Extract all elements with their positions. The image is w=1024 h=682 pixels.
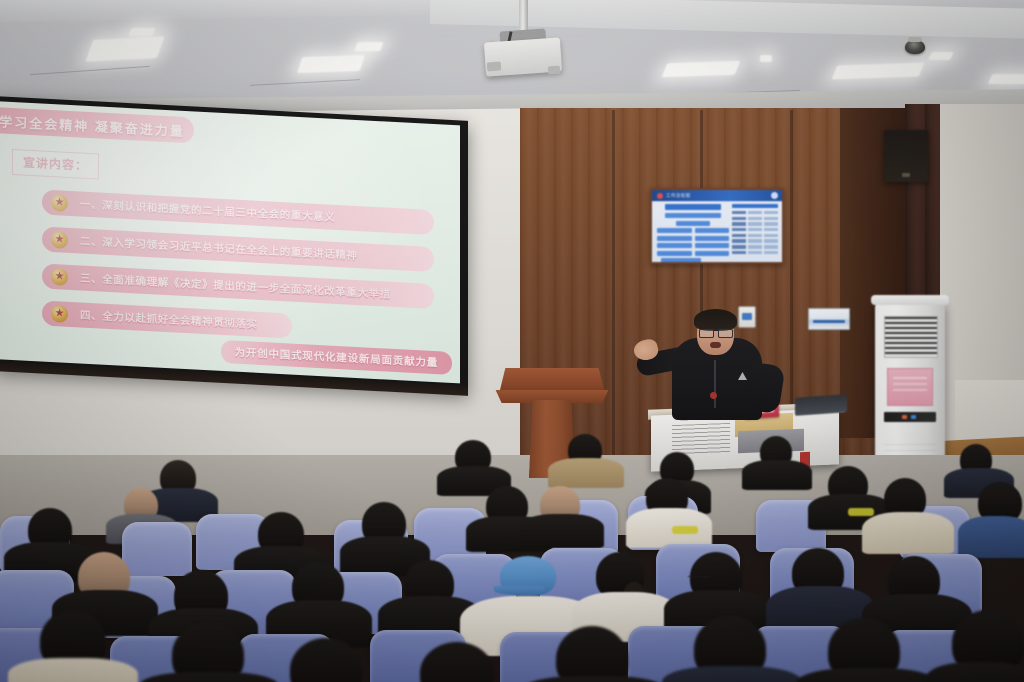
info-table-cell xyxy=(732,228,746,231)
flowchart-node xyxy=(657,243,692,248)
info-table-cell xyxy=(748,217,762,220)
wood-seam xyxy=(612,110,615,460)
ceiling-light xyxy=(831,63,924,80)
audience-shoulders xyxy=(548,458,624,488)
info-table-cell xyxy=(732,251,746,254)
slide-subheading: 宣讲内容： xyxy=(12,149,99,180)
ceiling-light xyxy=(662,61,741,78)
audience-shoulders xyxy=(958,516,1024,558)
wall-switch-panel[interactable] xyxy=(738,306,756,328)
info-table-cell xyxy=(764,239,778,242)
info-table-cell xyxy=(732,234,746,237)
info-table-row xyxy=(732,228,778,231)
ceiling-light xyxy=(128,28,155,36)
info-board-header-label: 工作流程图 xyxy=(666,193,691,199)
info-table-cell xyxy=(764,211,778,214)
ac-label-sticker xyxy=(887,368,933,406)
info-table-cell xyxy=(748,222,762,225)
slide-title: 学习全会精神 凝聚奋进力量 xyxy=(0,107,194,144)
party-emblem-glyph: ★ xyxy=(55,308,65,320)
speaker-mouth xyxy=(710,342,721,348)
party-emblem-icon: ★ xyxy=(51,305,68,323)
info-table-row xyxy=(732,222,778,225)
party-emblem-icon: ★ xyxy=(51,231,68,249)
info-table-row xyxy=(732,217,778,220)
info-board-header: 工作流程图 xyxy=(652,190,782,201)
ceiling-light xyxy=(760,55,772,62)
info-board-flowchart xyxy=(657,204,729,264)
audience-shoulders xyxy=(926,662,1024,682)
flowchart-node xyxy=(661,258,701,263)
wood-seam xyxy=(790,110,793,450)
flowchart-node xyxy=(665,213,721,218)
ceiling-seam xyxy=(250,79,360,86)
slide-bullet-list: ★ 一、深刻认识和把握党的二十届三中全会的重大意义 ★ 二、深入学习领会习近平总… xyxy=(42,190,434,359)
party-emblem-glyph: ★ xyxy=(55,271,65,283)
slide-bullet-text: 四、全力以赴抓好全会精神贯彻落实 xyxy=(80,308,258,332)
wall-info-board: 工作流程图 xyxy=(650,188,784,264)
lecture-hall-photo: 学习全会精神 凝聚奋进力量 宣讲内容： ★ 一、深刻认识和把握党的二十届三中全会… xyxy=(0,0,1024,682)
info-table-cell xyxy=(748,239,762,242)
flowchart-row xyxy=(657,228,729,233)
laptop[interactable] xyxy=(795,394,847,416)
ac-grille xyxy=(884,316,938,358)
info-table-header xyxy=(732,204,778,208)
lanyard-badge xyxy=(672,526,698,534)
flowchart-row xyxy=(657,236,729,241)
wall-sign xyxy=(808,308,850,330)
flowchart-node xyxy=(695,228,730,233)
flowchart-node xyxy=(695,243,730,248)
info-table-cell xyxy=(732,239,746,242)
audience-area xyxy=(0,430,1024,682)
ceiling-seam xyxy=(30,66,150,75)
info-table-cell xyxy=(748,211,762,214)
info-table-cell xyxy=(732,222,746,225)
projector-foot xyxy=(487,62,502,72)
info-table-row xyxy=(732,234,778,237)
audience-shoulders xyxy=(520,514,604,548)
info-board-logo-icon xyxy=(771,192,778,199)
info-table-row xyxy=(732,251,778,254)
flowchart-title-node xyxy=(665,204,721,210)
dome-security-camera-icon xyxy=(905,40,925,54)
info-table-cell xyxy=(732,211,746,214)
flowchart-node xyxy=(657,236,692,241)
party-emblem-glyph: ★ xyxy=(55,234,65,246)
info-table-cell xyxy=(732,217,746,220)
info-table-cell xyxy=(764,228,778,231)
ceiling-light xyxy=(85,36,164,62)
flowchart-row xyxy=(657,251,729,256)
slide-bullet-text: 三、全面准确理解《决定》提出的进一步全面深化改革重大举措 xyxy=(80,271,391,302)
info-table-row xyxy=(732,211,778,214)
info-table-row xyxy=(732,239,778,242)
info-table-cell xyxy=(764,245,778,248)
cap-brim xyxy=(494,586,544,595)
info-table-cell xyxy=(764,234,778,237)
projector-foot xyxy=(548,66,561,75)
info-board-dot-icon xyxy=(657,193,663,199)
auditorium-seat xyxy=(122,522,192,576)
audience-glasses-icon xyxy=(688,576,710,582)
flowchart-node xyxy=(676,221,710,226)
ac-control-panel[interactable] xyxy=(884,412,936,422)
slide-bullet-item: ★ 三、全面准确理解《决定》提出的进一步全面深化改革重大举措 xyxy=(42,264,434,310)
jacket-zipper xyxy=(714,360,716,408)
ceiling-light xyxy=(354,42,383,51)
slide-bullet-text: 一、深刻认识和把握党的二十届三中全会的重大意义 xyxy=(80,197,335,225)
slide-bullet-item: ★ 四、全力以赴抓好全会精神贯彻落实 xyxy=(42,301,292,339)
ac-top-cap xyxy=(871,295,949,305)
info-table-cell xyxy=(764,251,778,254)
info-table-cell xyxy=(748,228,762,231)
projection-screen-frame: 学习全会精神 凝聚奋进力量 宣讲内容： ★ 一、深刻认识和把握党的二十届三中全会… xyxy=(0,96,468,393)
info-table-cell xyxy=(748,234,762,237)
wall-speaker-icon xyxy=(884,130,928,182)
ceiling-light xyxy=(928,52,954,60)
party-badge-icon xyxy=(710,392,717,399)
audience-shoulders xyxy=(742,460,812,490)
info-table-cell xyxy=(764,222,778,225)
flowchart-node xyxy=(695,251,730,256)
info-table-cell xyxy=(764,217,778,220)
audience-shoulders xyxy=(8,658,138,682)
projection-screen: 学习全会精神 凝聚奋进力量 宣讲内容： ★ 一、深刻认识和把握党的二十届三中全会… xyxy=(0,101,460,383)
info-board-table xyxy=(732,204,778,257)
party-emblem-glyph: ★ xyxy=(55,197,65,209)
ceiling-light xyxy=(297,55,365,73)
ceiling-light xyxy=(988,74,1024,84)
info-table-cell xyxy=(748,251,762,254)
info-table-cell xyxy=(748,245,762,248)
lanyard-badge xyxy=(848,508,874,516)
flowchart-node xyxy=(657,251,692,256)
slide-bullet-item: ★ 二、深入学习领会习近平总书记在全会上的重要讲话精神 xyxy=(42,227,434,273)
audience-shoulders xyxy=(626,508,712,548)
info-table-row xyxy=(732,245,778,248)
slide-bullet-item: ★ 一、深刻认识和把握党的二十届三中全会的重大意义 xyxy=(42,190,434,236)
slide-bullet-text: 二、深入学习领会习近平总书记在全会上的重要讲话精神 xyxy=(80,234,358,264)
info-table-cell xyxy=(732,245,746,248)
speaker-glasses-icon xyxy=(699,329,733,336)
audience-shoulders xyxy=(862,512,954,554)
flowchart-row xyxy=(657,243,729,248)
speaker-hair xyxy=(694,309,737,331)
flowchart-node xyxy=(657,228,692,233)
flowchart-node xyxy=(695,236,730,241)
party-emblem-icon: ★ xyxy=(51,194,68,212)
party-emblem-icon: ★ xyxy=(51,268,68,286)
